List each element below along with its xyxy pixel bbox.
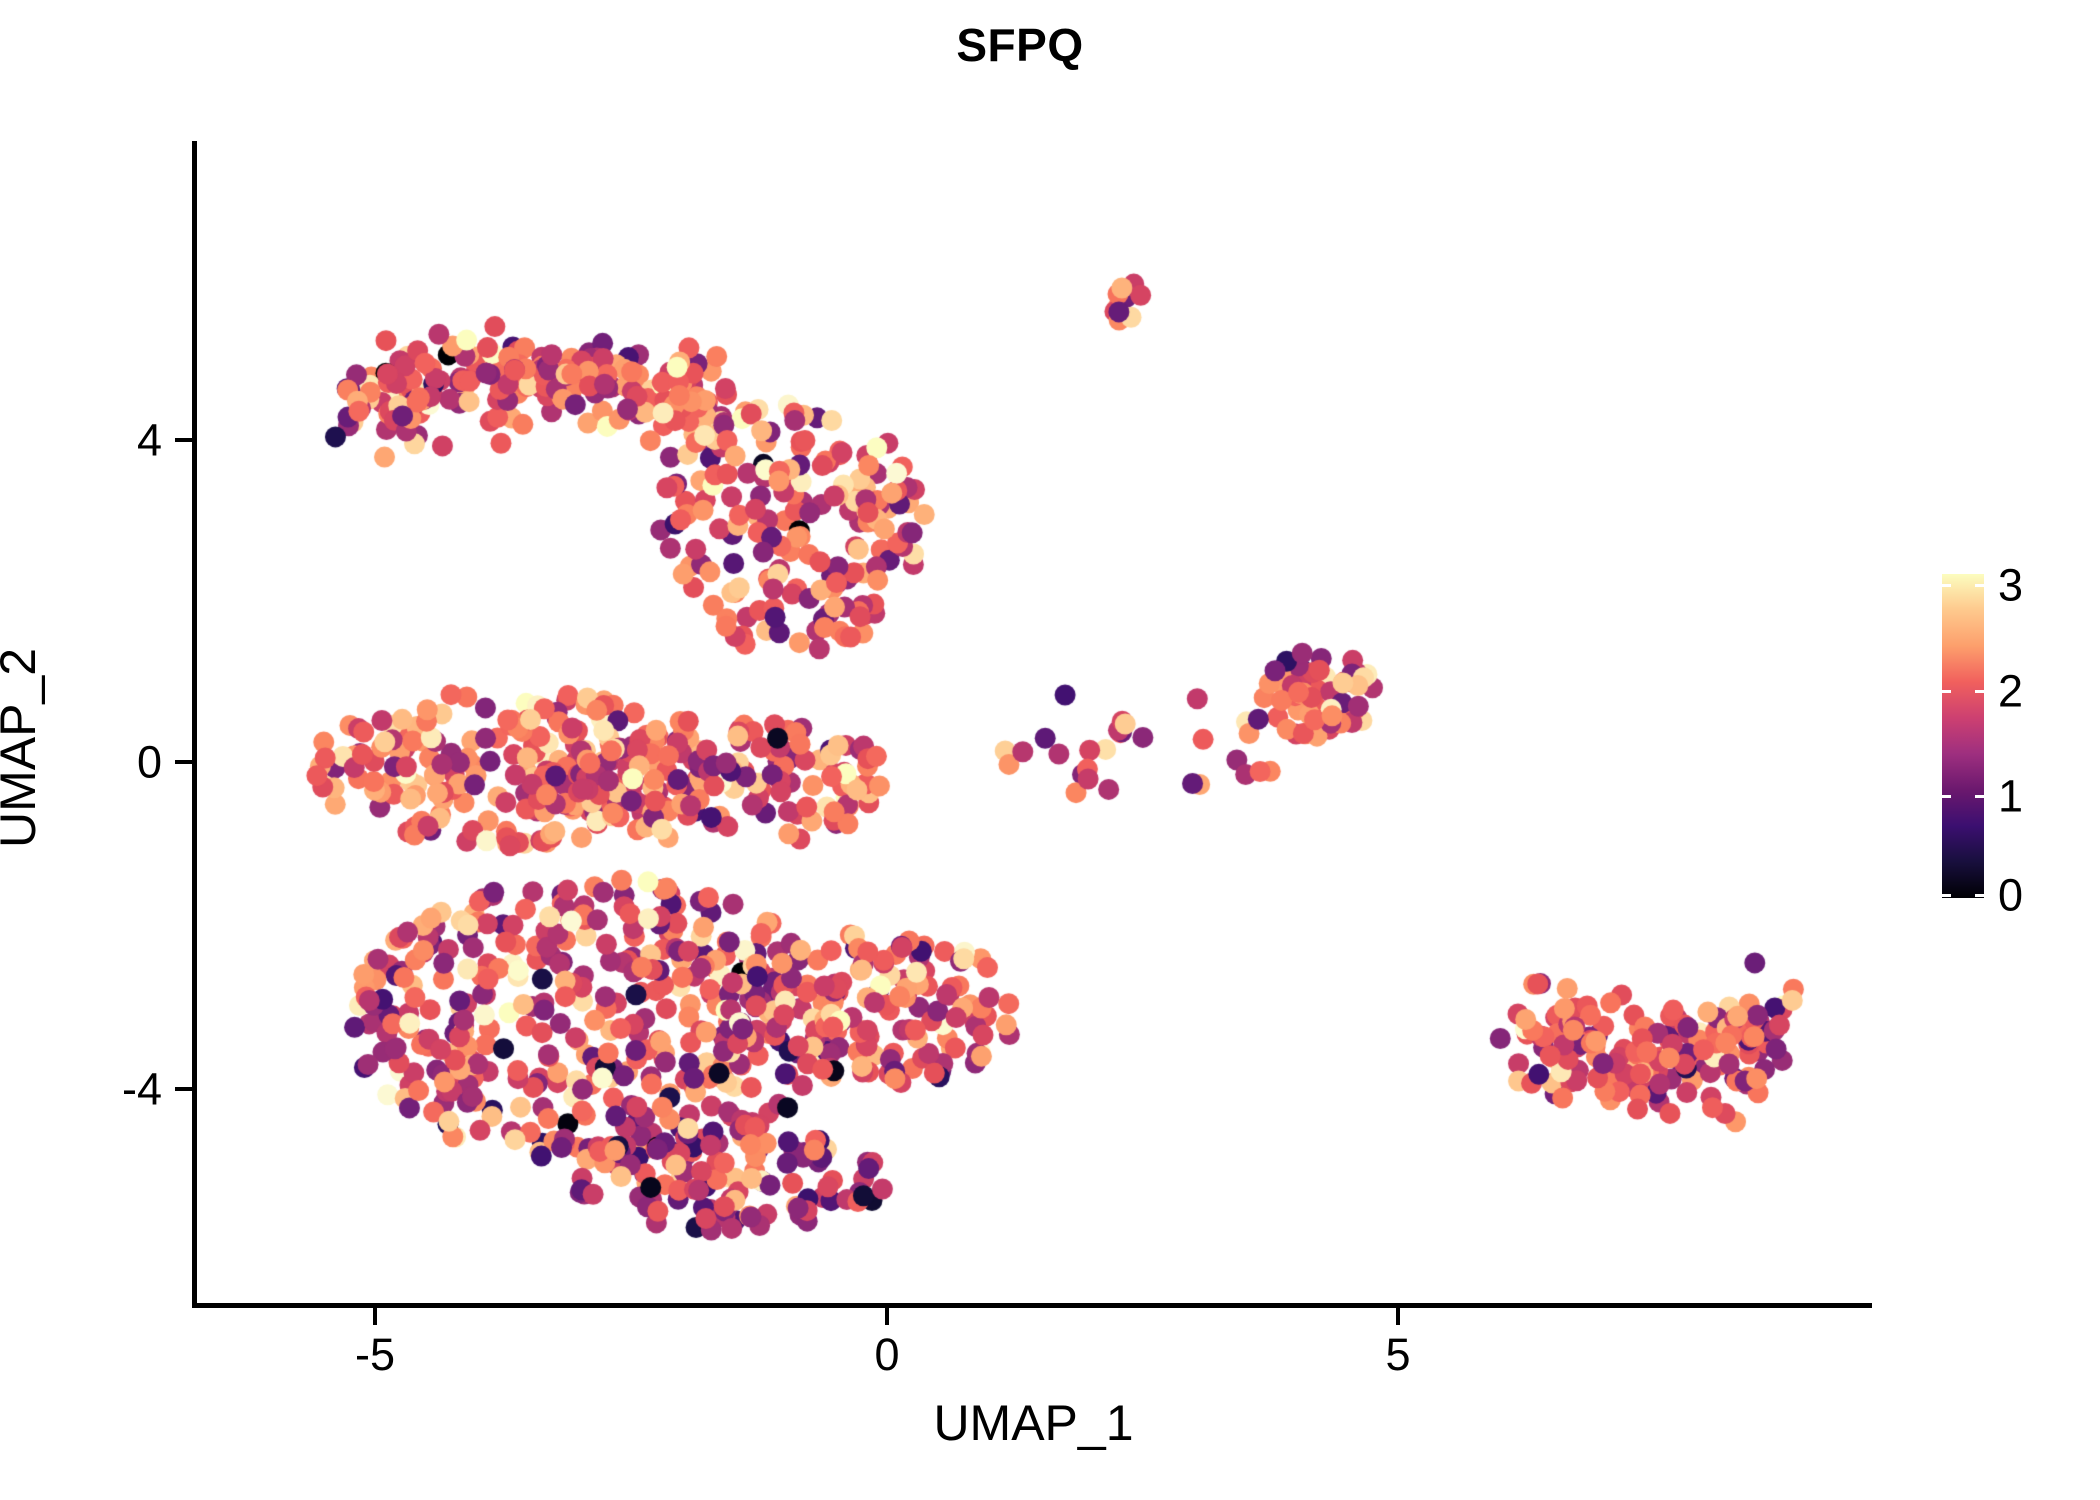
colorbar-tick-2-left [1942,690,1951,693]
scatter-points-canvas [195,141,1872,1305]
colorbar-tick-3-right [1975,584,1984,587]
x-tick-label-5: 5 [1385,1332,1410,1377]
y-tick-label-4: 4 [137,418,162,463]
x-axis-title: UMAP_1 [195,1398,1872,1448]
colorbar-tick-1-left [1942,795,1951,798]
colorbar-label-1: 1 [1998,774,2023,819]
page-title: SFPQ [0,22,2040,68]
colorbar-tick-0-left [1942,894,1951,897]
y-tick-mark-4 [175,438,192,442]
x-tick-label-0: 0 [874,1332,899,1377]
y-tick-mark-0 [175,760,192,764]
y-axis-line [192,141,197,1308]
colorbar-tick-1-right [1975,795,1984,798]
x-tick-mark-5 [1396,1308,1400,1325]
y-tick-mark-neg4 [175,1087,192,1091]
colorbar-label-2: 2 [1998,669,2023,714]
x-tick-mark-neg5 [373,1308,377,1325]
colorbar-track [1942,574,1984,898]
plot-panel [195,141,1872,1305]
y-tick-label-neg4: -4 [122,1067,162,1112]
y-tick-label-0: 0 [137,740,162,785]
colorbar-tick-3-left [1942,584,1951,587]
x-axis-line [192,1303,1872,1308]
x-tick-label-neg5: -5 [355,1332,395,1377]
colorbar-label-0: 0 [1998,873,2023,918]
colorbar-tick-2-right [1975,690,1984,693]
y-axis-title: UMAP_2 [0,648,43,848]
x-tick-mark-0 [885,1308,889,1325]
colorbar-label-3: 3 [1998,563,2023,608]
umap-feature-plot: SFPQ 4 0 -4 -5 0 5 UMAP_1 UMAP_2 3 2 [0,0,2100,1500]
colorbar-tick-0-right [1975,894,1984,897]
colorbar-gradient [1942,574,1984,898]
